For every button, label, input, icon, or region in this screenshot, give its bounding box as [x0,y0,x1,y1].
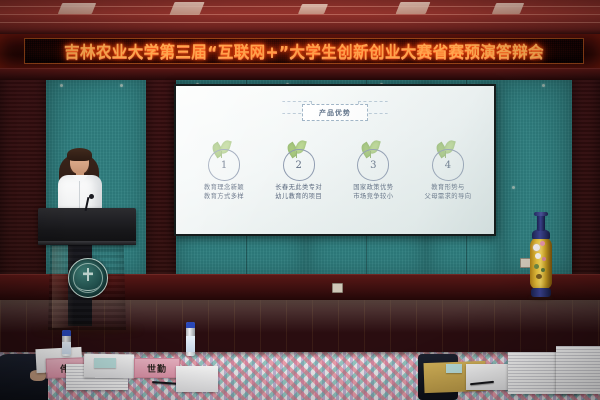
name-card-2: 世勤 [134,358,180,378]
decorative-vase [528,214,554,300]
slide-item-line1: 教育理念新颖 [204,184,244,193]
podium-top [38,208,136,244]
podium [42,208,132,330]
judge-papers [176,366,218,392]
judges-table: 伟 世勤 [0,352,600,400]
slide-item-line2: 市场竞争较小 [353,193,393,202]
wall-outlet [332,283,343,293]
document-stack [556,346,600,394]
name-card-text: 世勤 [147,362,167,375]
ceiling-light-panel [298,4,328,14]
slide-item-number: 1 [221,160,227,171]
university-emblem [68,258,108,298]
led-banner: 吉林农业大学第三届“互联网+”大学生创新创业大赛省赛预演答辩会 [0,34,600,68]
projection-screen: 产品优势 1 教育理念新颖 教育方式多样 [176,86,494,234]
sprout-icon: 2 [279,141,319,179]
microphone-icon [89,194,94,199]
sticky-note [446,364,462,373]
slide-item-2: 2 长春无此类专对 幼儿教育的项目 [263,141,335,201]
vase-body [530,237,552,289]
slide-item-line1: 长春无此类专对 [275,184,322,193]
slide-columns: 1 教育理念新颖 教育方式多样 2 长春无此类专对 幼儿教育的项目 [188,141,484,201]
sticky-note [94,358,116,368]
sprout-icon: 1 [204,141,244,179]
slide-item-line2: 教育方式多样 [204,193,244,202]
ceiling [0,0,600,36]
slide-item-line2: 幼儿教育的项目 [275,193,322,202]
sprout-icon: 4 [428,141,468,179]
slide-item-line2: 父母需求的导向 [425,193,472,202]
slide-title-ribbon: 产品优势 [282,100,388,122]
slide-item-line1: 教育形势与 [425,184,472,193]
ceiling-light-panel [396,2,431,14]
photo-scene: 吉林农业大学第三届“互联网+”大学生创新创业大赛省赛预演答辩会 [0,0,600,400]
sprout-icon: 3 [353,141,393,179]
slide-item-number: 2 [295,160,301,171]
led-banner-screen: 吉林农业大学第三届“互联网+”大学生创新创业大赛省赛预演答辩会 [24,38,584,64]
slide-item-4: 4 教育形势与 父母需求的导向 [412,141,484,201]
ceiling-light-panel [492,3,524,14]
slide-item-1: 1 教育理念新颖 教育方式多样 [188,141,260,201]
led-banner-text: 吉林农业大学第三届“互联网+”大学生创新创业大赛省赛预演答辩会 [64,40,544,62]
slide-item-number: 3 [370,160,376,171]
ceiling-light-panel [169,2,204,15]
slide-item-number: 4 [445,160,451,171]
slide-item-3: 3 国家政策优势 市场竞争较小 [337,141,409,201]
judge-papers [466,364,512,390]
slide-title: 产品优势 [319,108,351,118]
slide-item-line1: 国家政策优势 [353,184,393,193]
ceiling-light-panel [58,3,96,14]
projection-screen-frame: 产品优势 1 教育理念新颖 教育方式多样 [174,84,496,236]
